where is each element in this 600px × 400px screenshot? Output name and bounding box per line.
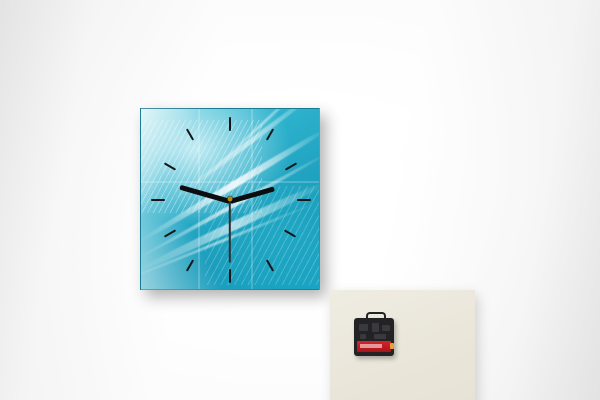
hour-tick <box>297 199 311 201</box>
clock-dial <box>140 108 320 290</box>
clock-front-photo <box>140 108 320 290</box>
hand-hub <box>228 197 233 202</box>
hanger-loop <box>366 312 386 323</box>
hour-tick <box>151 199 165 201</box>
clock-mechanism <box>354 318 394 356</box>
hour-tick <box>229 269 231 283</box>
hour-tick <box>229 117 231 131</box>
infographic-canvas: HARTOVANÉ SKLO Odolné proti rozbití a po… <box>0 0 600 400</box>
second-hand <box>229 201 231 263</box>
connector-lines <box>0 364 600 400</box>
battery <box>357 341 391 352</box>
